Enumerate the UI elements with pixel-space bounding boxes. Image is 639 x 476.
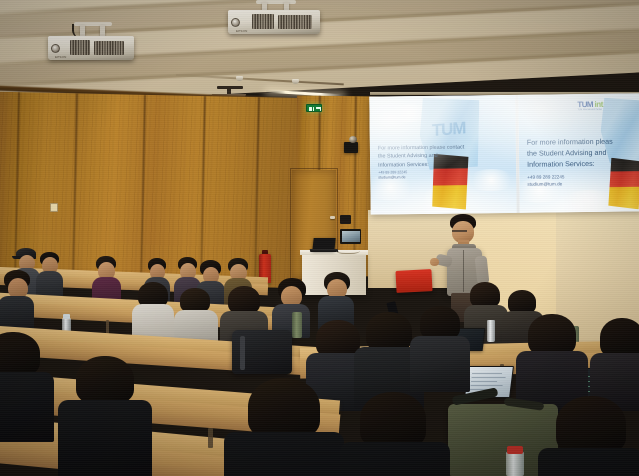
bottle-cap <box>507 446 523 454</box>
door-handle-icon[interactable] <box>330 216 335 219</box>
water-bottle <box>506 452 524 476</box>
tum-logo-accent: int <box>594 100 603 109</box>
screen-pane-left: TUM For more information please contact … <box>369 95 516 215</box>
camera-lens-icon <box>349 136 357 143</box>
slide-right-line3: Information Services: <box>527 158 639 171</box>
slide-right-text: For more information pleas the Student A… <box>527 135 639 170</box>
projector-right: EPSON <box>228 0 338 42</box>
projection-screen: TUM For more information please contact … <box>369 93 639 214</box>
projector-lens-icon <box>51 44 60 53</box>
slide-right-contact: +49 89 289 22245 studium@tum.de <box>527 173 637 188</box>
slide-left-text: For more information please contact the … <box>378 143 482 169</box>
track-light-head <box>292 79 299 84</box>
thermos <box>292 312 302 338</box>
slide-left-contact: +49 89 289 22245 studium@tum.de <box>378 169 478 181</box>
lectern-cable <box>336 246 360 254</box>
projector-brand-label: EPSON <box>55 55 67 59</box>
tum-int-logo: TUM int TUM International Center <box>577 100 603 109</box>
red-chair[interactable] <box>395 269 432 293</box>
wall-camera <box>344 142 358 153</box>
slide-left-line3: Information Services: <box>378 160 482 170</box>
lecture-hall-photo: EPSON EPSON <box>0 0 639 476</box>
projector-brand-label: EPSON <box>236 29 248 33</box>
exit-sign <box>306 104 322 112</box>
water-bottle <box>487 320 495 342</box>
lectern-control-panel[interactable] <box>340 215 351 224</box>
tum-logo-main: TUM <box>577 100 593 109</box>
lectern-laptop-base <box>310 249 339 252</box>
screen-pane-right: TUM int TUM International Center For mor… <box>518 93 639 212</box>
tum-flag-wordmark: TUM <box>432 118 466 141</box>
slide-right-email: studium@tum.de <box>527 180 637 188</box>
lectern-monitor <box>340 229 361 244</box>
backpack-strap <box>240 336 245 370</box>
bottle-cap <box>63 314 70 319</box>
projector-left: EPSON <box>42 22 142 64</box>
projector-lens-icon <box>231 18 240 27</box>
wall-switch-plate[interactable] <box>50 203 58 212</box>
track-light-head <box>236 76 243 81</box>
tum-logo-subtitle: TUM International Center <box>577 109 602 111</box>
